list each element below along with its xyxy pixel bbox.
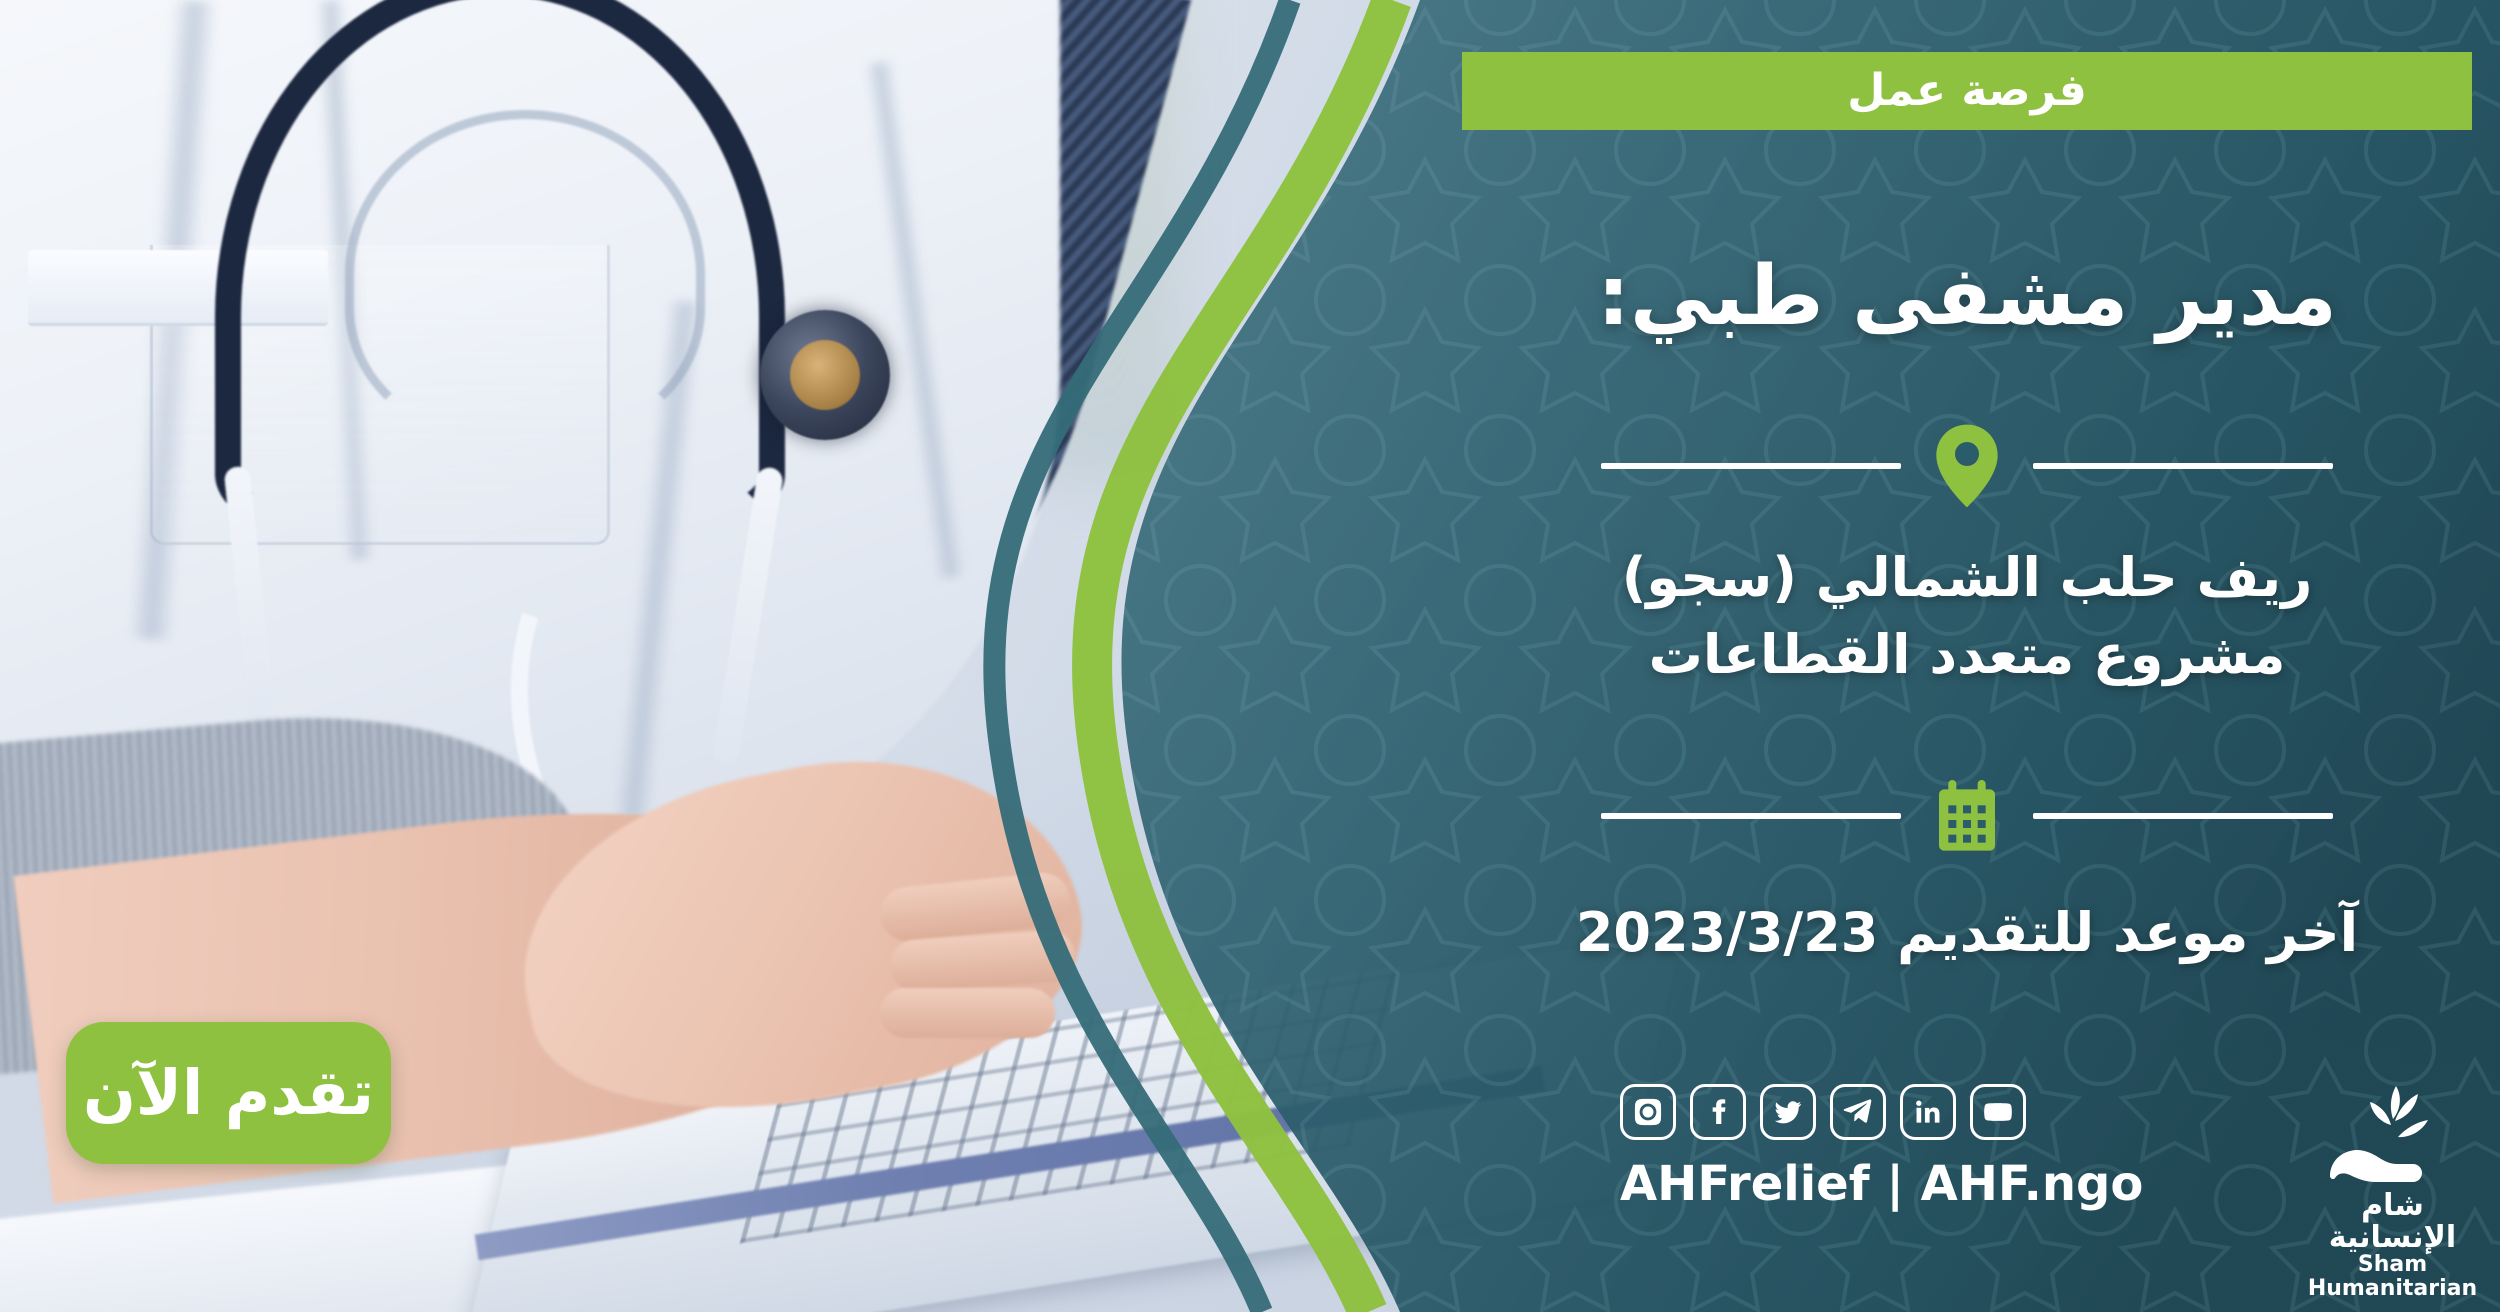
logo-name-arabic: شام الإنسانية [2305, 1190, 2480, 1253]
social-handles: AHFrelief | AHF.ngo [1620, 1156, 2279, 1212]
location-divider-row [1462, 424, 2472, 508]
telegram-icon[interactable] [1830, 1084, 1886, 1140]
youtube-icon[interactable] [1970, 1084, 2026, 1140]
apply-now-button[interactable]: تقدم الآن [66, 1022, 391, 1164]
apply-now-label: تقدم الآن [83, 1062, 374, 1124]
ribbon-label: فرصة عمل [1847, 69, 2087, 113]
calendar-icon [1935, 778, 1999, 854]
deadline-divider-row [1462, 778, 2472, 854]
location-line-2: مشروع متعدد القطاعات [1462, 617, 2472, 694]
twitter-icon[interactable] [1760, 1084, 1816, 1140]
location-pin-icon [1935, 424, 1999, 508]
location-line-1: ريف حلب الشمالي (سجو) [1462, 540, 2472, 617]
social-icons-row [1620, 1084, 2279, 1140]
location-details: ريف حلب الشمالي (سجو) مشروع متعدد القطاع… [1462, 540, 2472, 693]
divider-rule-right [1601, 813, 1901, 819]
social-block: AHFrelief | AHF.ngo [1620, 1080, 2279, 1212]
job-opportunity-poster: فرصة عمل مدير مشفى طبي: ريف حلب الشمالي … [0, 0, 2500, 1312]
hand-and-leaves-icon [2318, 1080, 2468, 1188]
deadline-text: آخر موعد للتقديم 2023/3/23 [1462, 898, 2472, 968]
organization-logo: شام الإنسانية Sham Humanitarian [2305, 1080, 2480, 1301]
divider-rule-right [1601, 463, 1901, 469]
linkedin-icon[interactable] [1900, 1084, 1956, 1140]
facebook-icon[interactable] [1690, 1084, 1746, 1140]
instagram-icon[interactable] [1620, 1084, 1676, 1140]
logo-name-english: Sham Humanitarian [2305, 1253, 2480, 1301]
divider-rule-left [2033, 813, 2333, 819]
page-title: مدير مشفى طبي: [1462, 252, 2472, 342]
divider-rule-left [2033, 463, 2333, 469]
footer: شام الإنسانية Sham Humanitarian [1620, 1080, 2480, 1270]
ribbon-banner: فرصة عمل [1462, 52, 2472, 130]
